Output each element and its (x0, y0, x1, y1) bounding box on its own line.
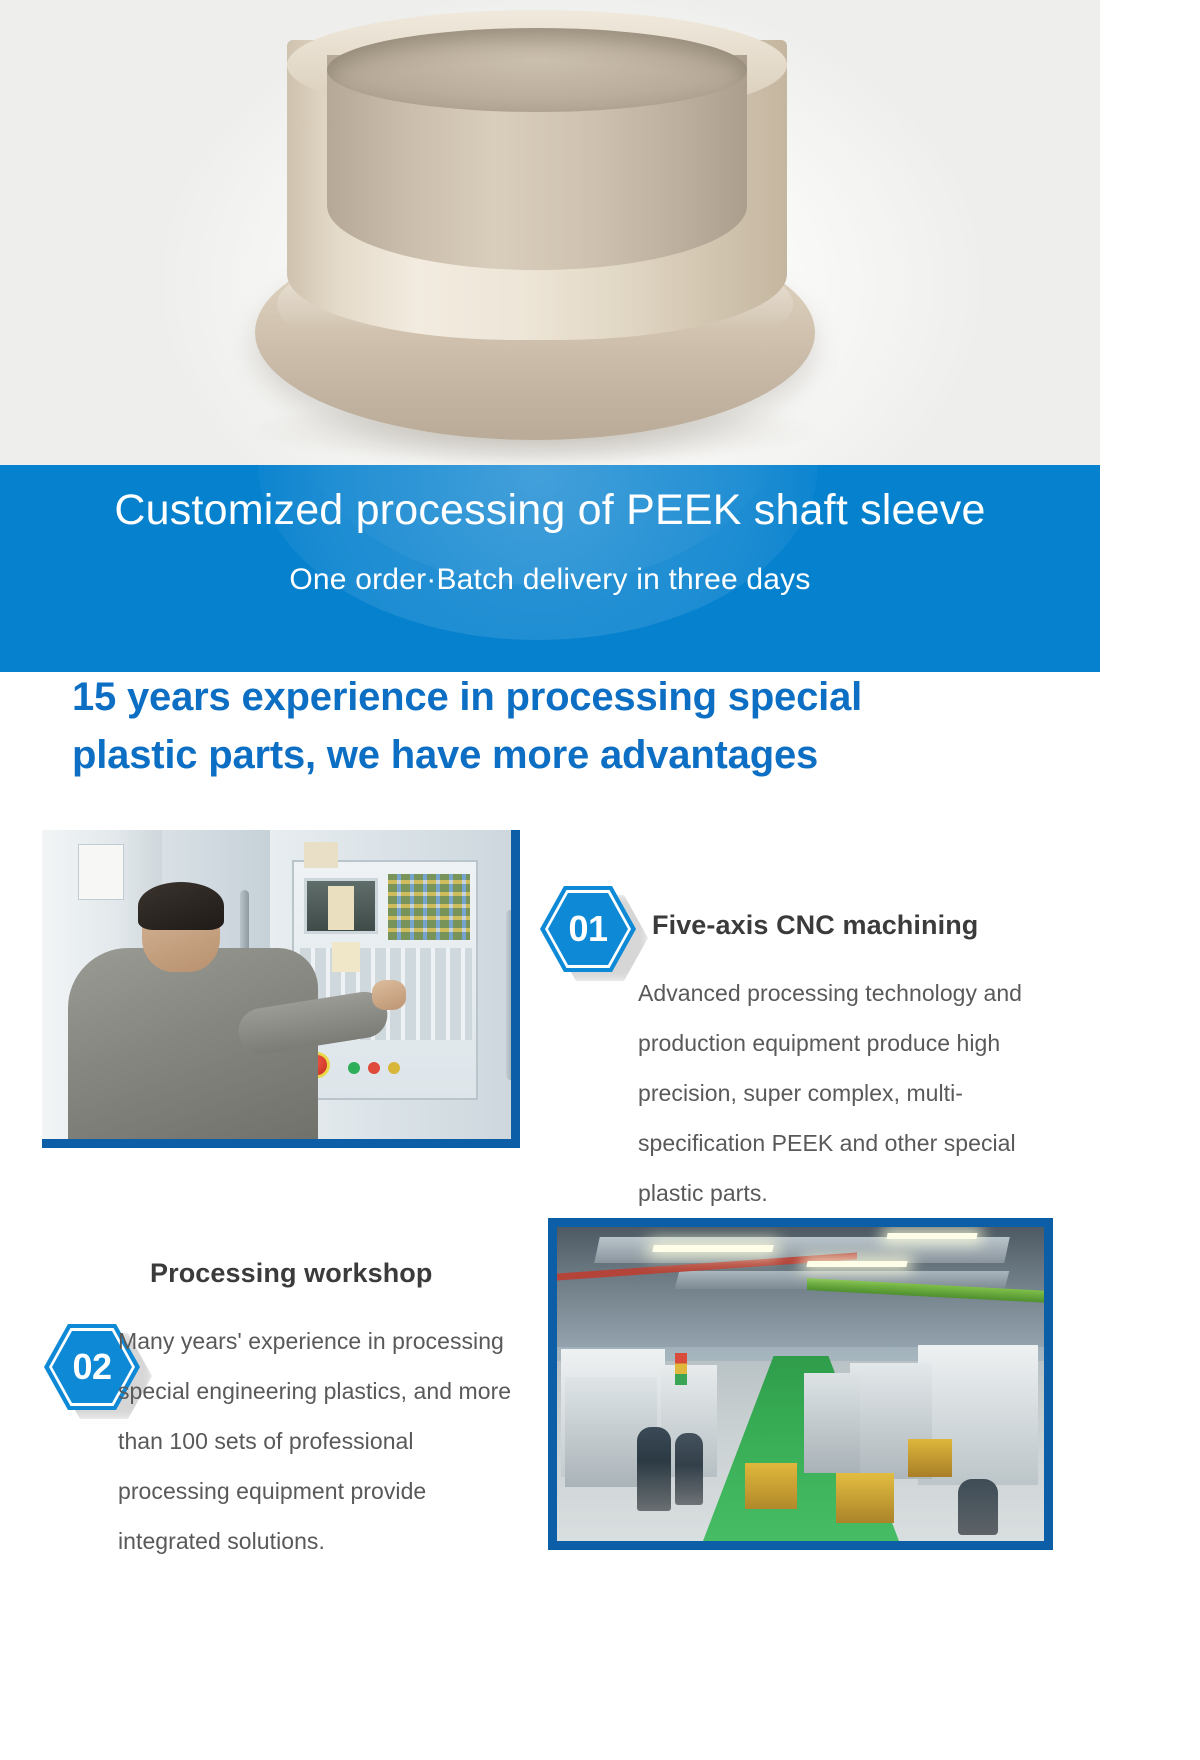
feature-01-photo (42, 830, 520, 1148)
feature-02-body: Many years' experience in processing spe… (118, 1316, 523, 1566)
sleeve-bore-opening (327, 28, 747, 112)
section-heading-line-1: 15 years experience in processing specia… (72, 668, 1062, 726)
cnc-operator-image (42, 830, 511, 1139)
section-heading-line-2: plastic parts, we have more advantages (72, 726, 1062, 784)
product-detail-page: Customized processing of PEEK shaft slee… (0, 0, 1200, 1760)
section-heading: 15 years experience in processing specia… (72, 668, 1062, 784)
feature-02-title: Processing workshop (150, 1258, 432, 1289)
feature-01-number: 01 (540, 886, 636, 972)
feature-02-photo (548, 1218, 1053, 1550)
feature-01-title: Five-axis CNC machining (652, 910, 978, 941)
banner-title: Customized processing of PEEK shaft slee… (0, 485, 1100, 536)
banner-subtitle: One order·Batch delivery in three days (0, 563, 1100, 597)
hero-section: Customized processing of PEEK shaft slee… (0, 0, 1100, 672)
feature-01-number-badge: 01 (540, 886, 636, 972)
feature-01-body: Advanced processing technology and produ… (638, 968, 1070, 1218)
promo-banner: Customized processing of PEEK shaft slee… (0, 465, 1100, 672)
workshop-image (557, 1227, 1044, 1541)
